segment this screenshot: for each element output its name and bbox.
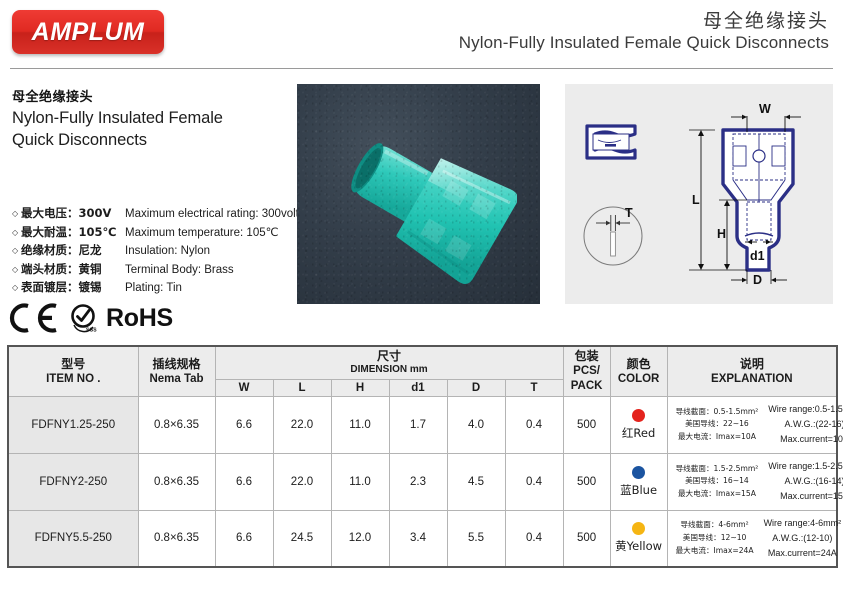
- spec-item: ◇ 表面镀层：镀锡 Plating: Tin: [12, 279, 312, 298]
- header-color: 颜色 COLOR: [610, 346, 667, 396]
- bullet-icon: ◇: [12, 284, 21, 292]
- cell-color: 黄Yellow: [610, 510, 667, 567]
- cell-explanation: 导线截面：1.5-2.5mm² 美国导线：16~14 最大电流：Imax=15A…: [667, 453, 837, 510]
- cell-w: 6.6: [215, 453, 273, 510]
- brand-logo-text: AMPLUM: [32, 18, 145, 47]
- expl-cn-awg: 美国导线：22~16: [676, 418, 759, 431]
- expl-en-awg: A.W.G.:(16-14): [768, 474, 843, 489]
- header-dim-t: T: [505, 379, 563, 396]
- bullet-icon: ◇: [12, 247, 21, 255]
- label-D: D: [753, 273, 762, 287]
- spec-item: ◇ 最大耐温：105℃ Maximum temperature: 105℃: [12, 224, 312, 243]
- header-dimension: 尺寸 DIMENSION mm: [215, 346, 563, 379]
- brand-logo: AMPLUM: [12, 10, 164, 54]
- cell-color: 红Red: [610, 396, 667, 453]
- page-header: AMPLUM 母全绝缘接头 Nylon-Fully Insulated Fema…: [0, 0, 843, 68]
- header-pack-en2: PACK: [565, 379, 609, 393]
- expl-cn-awg: 美国导线：12~10: [676, 532, 754, 545]
- spec-label-en: Maximum temperature: 105℃: [125, 225, 279, 239]
- datasheet-page: AMPLUM 母全绝缘接头 Nylon-Fully Insulated Fema…: [0, 0, 843, 604]
- spec-label-en: Maximum electrical rating: 300volts: [125, 208, 305, 220]
- front-view: [587, 126, 635, 158]
- spec-label-cn: 表面镀层：镀锡: [21, 279, 125, 295]
- cell-l: 22.0: [273, 396, 331, 453]
- cell-explanation: 导线截面：4-6mm² 美国导线：12~10 最大电流：Imax=24A Wir…: [667, 510, 837, 567]
- cell-nema-tab: 0.8×6.35: [138, 396, 215, 453]
- header-item-no-en: ITEM NO .: [10, 372, 137, 386]
- spec-label-cn: 绝缘材质：尼龙: [21, 242, 125, 258]
- header-color-en: COLOR: [612, 372, 666, 386]
- color-label: 蓝Blue: [611, 482, 667, 498]
- expl-cn-wire-range: 导线截面：4-6mm²: [676, 519, 754, 532]
- connector-image: [327, 106, 517, 288]
- spec-label-en: Insulation: Nylon: [125, 245, 210, 257]
- expl-en-current: Max.current=24A: [764, 546, 842, 561]
- header-dim-w: W: [215, 379, 273, 396]
- header-pack-en1: PCS/: [565, 364, 609, 378]
- cell-item-no: FDFNY1.25-250: [8, 396, 138, 453]
- header-dim-h: H: [331, 379, 389, 396]
- header-title-en: Nylon-Fully Insulated Female Quick Disco…: [459, 33, 829, 53]
- cell-d: 4.5: [447, 453, 505, 510]
- expl-en-current: Max.current=15A: [768, 489, 843, 504]
- expl-en-awg: A.W.G.:(12-10): [764, 531, 842, 546]
- product-title-block: 母全绝缘接头 Nylon-Fully Insulated Female Quic…: [12, 86, 302, 152]
- cell-d1: 2.3: [389, 453, 447, 510]
- expl-cn-awg: 美国导线：16~14: [676, 475, 759, 488]
- cell-h: 11.0: [331, 453, 389, 510]
- expl-cn-current: 最大电流：Imax=15A: [676, 488, 759, 501]
- spec-label-cn: 最大电压：300V: [21, 205, 125, 221]
- header-dim-d: D: [447, 379, 505, 396]
- spec-item: ◇ 端头材质：黄铜 Terminal Body: Brass: [12, 261, 312, 280]
- header-title-cn: 母全绝缘接头: [703, 6, 829, 33]
- cell-nema-tab: 0.8×6.35: [138, 510, 215, 567]
- cell-d: 5.5: [447, 510, 505, 567]
- technical-drawing: T: [565, 84, 833, 304]
- rohs-label: RoHS: [106, 304, 173, 333]
- specification-list: ◇ 最大电压：300V Maximum electrical rating: 3…: [12, 205, 312, 298]
- cell-pack: 500: [563, 396, 610, 453]
- cell-d1: 3.4: [389, 510, 447, 567]
- color-label: 红Red: [611, 425, 667, 441]
- header-nema-tab: 插线规格 Nema Tab: [138, 346, 215, 396]
- cell-d: 4.0: [447, 396, 505, 453]
- dimension-W: W: [731, 102, 801, 132]
- expl-cn-wire-range: 导线截面：1.5-2.5mm²: [676, 463, 759, 476]
- color-swatch: [632, 522, 645, 535]
- header-divider: [10, 68, 833, 69]
- expl-en-current: Max.current=10A: [768, 432, 843, 447]
- cell-t: 0.4: [505, 510, 563, 567]
- expl-en-awg: A.W.G.:(22-16): [768, 417, 843, 432]
- expl-en-wire-range: Wire range:1.5-2.5mm²: [768, 459, 843, 474]
- cell-l: 24.5: [273, 510, 331, 567]
- header-item-no: 型号 ITEM NO .: [8, 346, 138, 396]
- header-dim-d1: d1: [389, 379, 447, 396]
- dimension-D: D: [731, 270, 787, 287]
- expl-cn-current: 最大电流：Imax=10A: [676, 431, 759, 444]
- color-label: 黄Yellow: [611, 538, 667, 554]
- header-dim-l: L: [273, 379, 331, 396]
- product-title-en-line2: Quick Disconnects: [12, 130, 302, 152]
- bullet-icon: ◇: [12, 210, 21, 218]
- color-swatch: [632, 409, 645, 422]
- header-explanation-cn: 说明: [669, 357, 836, 372]
- expl-en-wire-range: Wire range:4-6mm²: [764, 516, 842, 531]
- bullet-icon: ◇: [12, 266, 21, 274]
- header-pack: 包装 PCS/ PACK: [563, 346, 610, 396]
- spec-label-en: Terminal Body: Brass: [125, 264, 234, 276]
- header-color-cn: 颜色: [612, 357, 666, 372]
- cell-item-no: FDFNY2-250: [8, 453, 138, 510]
- cell-t: 0.4: [505, 453, 563, 510]
- cell-pack: 500: [563, 453, 610, 510]
- ce-mark-icon: [8, 303, 62, 333]
- spec-label-cn: 最大耐温：105℃: [21, 224, 125, 240]
- label-L: L: [692, 193, 700, 207]
- cell-nema-tab: 0.8×6.35: [138, 453, 215, 510]
- cell-w: 6.6: [215, 510, 273, 567]
- spec-item: ◇ 绝缘材质：尼龙 Insulation: Nylon: [12, 242, 312, 261]
- dimension-diagram: T: [565, 84, 833, 304]
- cell-color: 蓝Blue: [610, 453, 667, 510]
- specification-table: 型号 ITEM NO . 插线规格 Nema Tab 尺寸 DIMENSION …: [7, 345, 838, 568]
- cell-pack: 500: [563, 510, 610, 567]
- spec-label-en: Plating: Tin: [125, 282, 182, 294]
- bullet-icon: ◇: [12, 229, 21, 237]
- cell-t: 0.4: [505, 396, 563, 453]
- table-row: FDFNY1.25-250 0.8×6.35 6.6 22.0 11.0 1.7…: [8, 396, 837, 453]
- specification-table-wrapper: 型号 ITEM NO . 插线规格 Nema Tab 尺寸 DIMENSION …: [7, 345, 836, 591]
- header-dimension-en: DIMENSION mm: [217, 364, 562, 377]
- cell-l: 22.0: [273, 453, 331, 510]
- expl-cn-current: 最大电流：Imax=24A: [676, 545, 754, 558]
- header-explanation: 说明 EXPLANATION: [667, 346, 837, 396]
- header-nema-tab-cn: 插线规格: [140, 357, 214, 372]
- header-dimension-cn: 尺寸: [217, 349, 562, 364]
- sgs-mark-icon: SGS: [69, 303, 99, 333]
- product-photo: [297, 84, 540, 304]
- header-explanation-en: EXPLANATION: [669, 372, 836, 386]
- cell-h: 11.0: [331, 396, 389, 453]
- product-title-en-line1: Nylon-Fully Insulated Female: [12, 108, 302, 130]
- table-row: FDFNY5.5-250 0.8×6.35 6.6 24.5 12.0 3.4 …: [8, 510, 837, 567]
- color-swatch: [632, 466, 645, 479]
- expl-en-wire-range: Wire range:0.5-1.5mm²: [768, 402, 843, 417]
- label-d1: d1: [750, 249, 765, 263]
- header-item-no-cn: 型号: [10, 357, 137, 372]
- label-T: T: [625, 206, 633, 220]
- expl-cn-wire-range: 导线截面：0.5-1.5mm²: [676, 406, 759, 419]
- table-row: FDFNY2-250 0.8×6.35 6.6 22.0 11.0 2.3 4.…: [8, 453, 837, 510]
- cell-explanation: 导线截面：0.5-1.5mm² 美国导线：22~16 最大电流：Imax=10A…: [667, 396, 837, 453]
- cell-d1: 1.7: [389, 396, 447, 453]
- header-pack-cn: 包装: [565, 349, 609, 364]
- detail-view-circle: T: [584, 206, 642, 265]
- spec-item: ◇ 最大电压：300V Maximum electrical rating: 3…: [12, 205, 312, 224]
- spec-label-cn: 端头材质：黄铜: [21, 261, 125, 277]
- cell-item-no: FDFNY5.5-250: [8, 510, 138, 567]
- label-H: H: [717, 227, 726, 241]
- cell-h: 12.0: [331, 510, 389, 567]
- product-title-cn: 母全绝缘接头: [12, 86, 302, 105]
- label-W: W: [759, 102, 771, 116]
- svg-text:SGS: SGS: [86, 328, 97, 334]
- certification-marks: SGS RoHS: [8, 303, 173, 333]
- header-nema-tab-en: Nema Tab: [140, 372, 214, 386]
- cell-w: 6.6: [215, 396, 273, 453]
